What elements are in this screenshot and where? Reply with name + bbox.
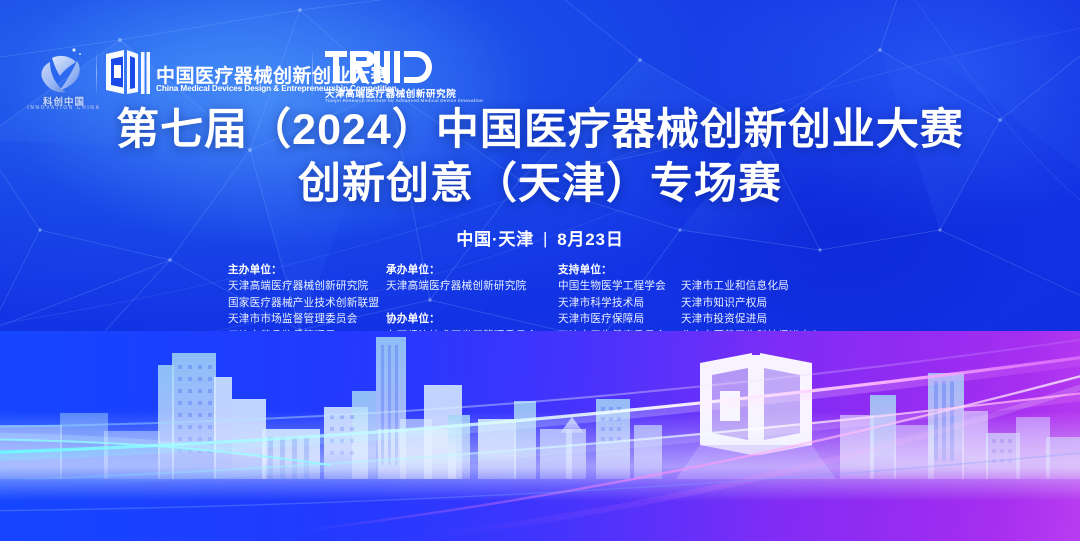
subtitle-separator: | xyxy=(543,229,548,249)
poster-title: 第七届（2024）中国医疗器械创新创业大赛 创新创意（天津）专场赛 xyxy=(0,104,1080,211)
column-spacer xyxy=(386,295,558,311)
supporter-item: 天津市知识产权局 xyxy=(681,295,865,311)
co-organizer-heading: 协办单位： xyxy=(386,311,558,327)
city-scene xyxy=(0,331,1080,541)
competition-door-logo-icon xyxy=(104,48,152,96)
supporters-heading: 支持单位： xyxy=(558,262,673,278)
poster-canvas: 科创中国 INNOVATION CHINA 中国医疗器械创新创业大赛 China… xyxy=(0,0,1080,541)
host-item: 国家医疗器械产业技术创新联盟 xyxy=(228,295,386,311)
event-date: 8月23日 xyxy=(557,230,623,249)
supporter-item: 天津市医疗保障局 xyxy=(558,311,673,327)
host-heading: 主办单位： xyxy=(228,262,386,278)
logo-bar: 科创中国 INNOVATION CHINA 中国医疗器械创新创业大赛 China… xyxy=(0,20,1080,96)
triid-name-en: Tianjin Research Institute for Advanced … xyxy=(325,98,483,103)
logo-divider-1 xyxy=(96,50,97,96)
title-line-1: 第七届（2024）中国医疗器械创新创业大赛 xyxy=(0,104,1080,156)
supporter-item: 天津市科学技术局 xyxy=(558,295,673,311)
event-subtitle: 中国·天津|8月23日 xyxy=(0,225,1080,250)
host-item: 天津市市场监督管理委员会 xyxy=(228,311,386,327)
organizer-heading: 承办单位： xyxy=(386,262,558,278)
event-location: 中国·天津 xyxy=(456,230,534,249)
supporter-item: 天津市投资促进局 xyxy=(681,311,865,327)
light-streaks-icon xyxy=(0,331,1080,541)
host-item: 天津高端医疗器械创新研究院 xyxy=(228,278,386,294)
triid-wordmark-icon xyxy=(325,50,435,84)
supporter-item: 中国生物医学工程学会 xyxy=(558,278,673,294)
title-line-2: 创新创意（天津）专场赛 xyxy=(0,158,1080,210)
column-spacer xyxy=(681,262,865,278)
supporter-item: 天津市工业和信息化局 xyxy=(681,278,865,294)
organizer-item: 天津高端医疗器械创新研究院 xyxy=(386,278,558,294)
logo-divider-2 xyxy=(312,50,313,96)
